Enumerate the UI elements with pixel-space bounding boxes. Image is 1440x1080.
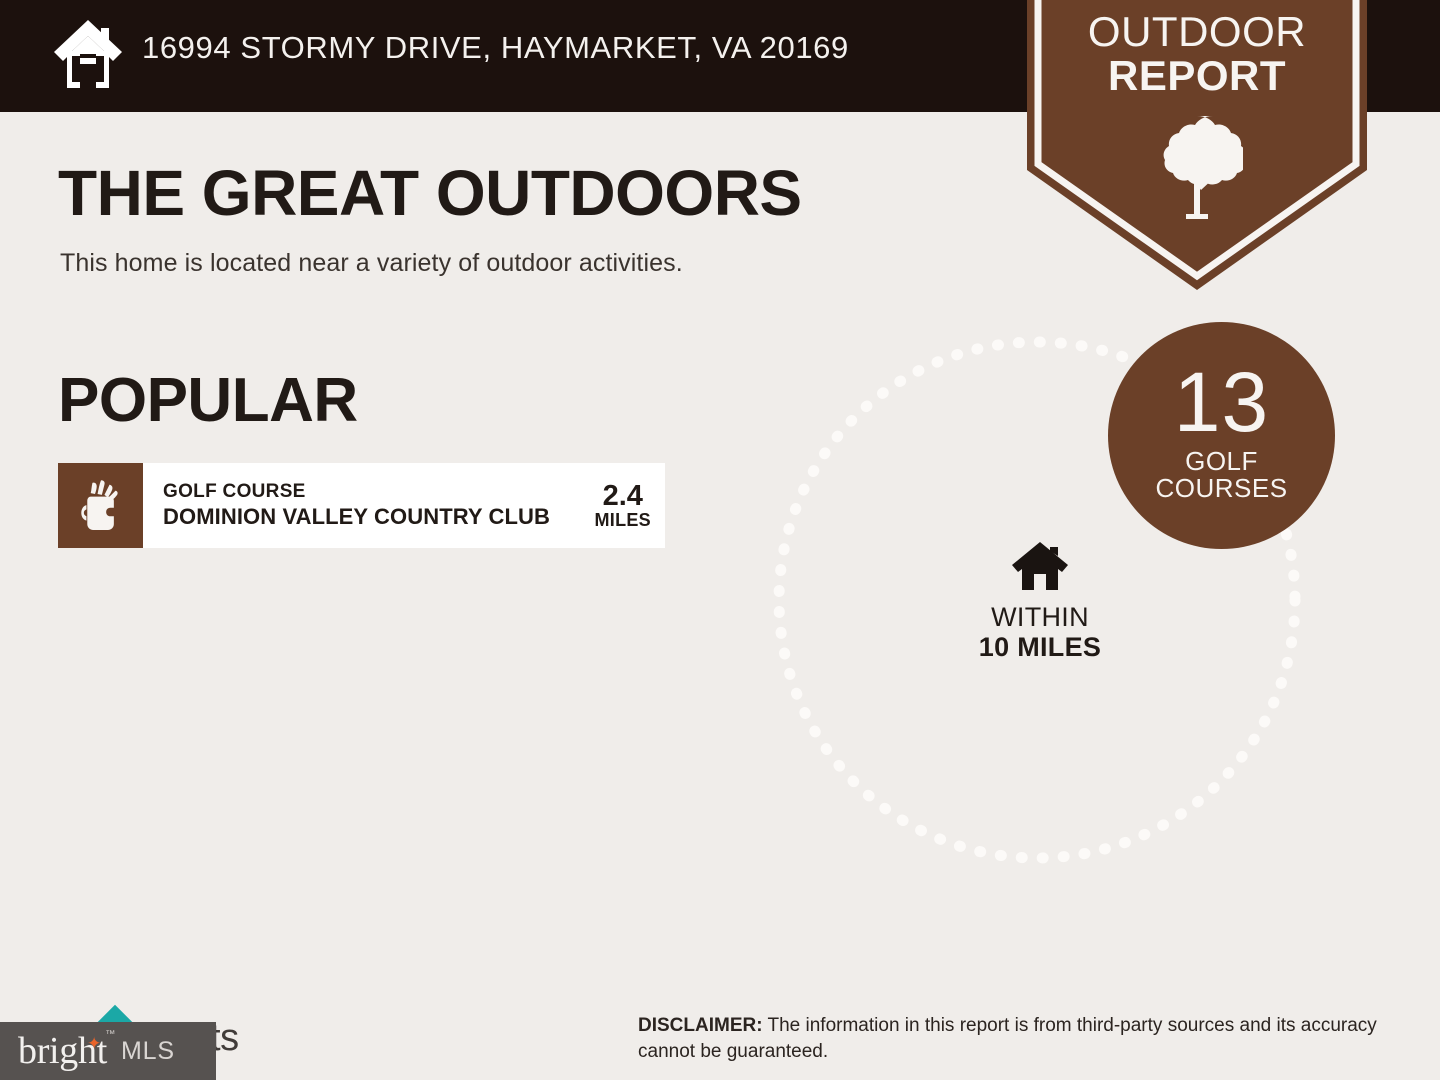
stat-label-line2: COURSES <box>1155 473 1287 503</box>
poi-text: GOLF COURSE DOMINION VALLEY COUNTRY CLUB <box>163 481 550 529</box>
home-icon <box>1012 540 1068 592</box>
outdoor-report-badge: OUTDOOR REPORT <box>1027 0 1367 290</box>
home-icon <box>52 14 124 94</box>
disclaimer-label: DISCLAIMER: <box>638 1015 763 1036</box>
bright-mls-logo: bright ✦ ™ MLS <box>0 1022 216 1080</box>
list-item[interactable]: GOLF COURSE DOMINION VALLEY COUNTRY CLUB… <box>58 463 665 548</box>
poi-distance: 2.4 MILES <box>584 481 651 530</box>
radius-label-line2: 10 MILES <box>940 633 1140 663</box>
disclaimer: DISCLAIMER: The information in this repo… <box>638 1013 1398 1064</box>
poi-distance-value: 2.4 <box>594 481 651 511</box>
footer-branding: eports bright ✦ ™ MLS <box>40 1015 460 1071</box>
radius-label-line1: WITHIN <box>940 603 1140 633</box>
radius-center-label: WITHIN 10 MILES <box>940 540 1140 662</box>
star-icon: ✦ <box>87 1036 102 1051</box>
poi-distance-unit: MILES <box>594 511 651 530</box>
page-title: THE GREAT OUTDOORS <box>58 161 802 225</box>
poi-name: DOMINION VALLEY COUNTRY CLUB <box>163 504 550 530</box>
bright-wordmark: bright ✦ ™ <box>18 1032 107 1070</box>
property-address: 16994 STORMY DRIVE, HAYMARKET, VA 20169 <box>142 30 849 66</box>
page-subtitle: This home is located near a variety of o… <box>60 249 683 278</box>
mls-text: MLS <box>121 1039 175 1064</box>
stat-value: 13 <box>1174 364 1269 441</box>
popular-heading: POPULAR <box>58 370 358 432</box>
golf-courses-stat: 13 GOLF COURSES <box>1108 322 1335 549</box>
golf-bag-icon <box>58 463 143 548</box>
radius-label: WITHIN 10 MILES <box>940 603 1140 662</box>
poi-card: GOLF COURSE DOMINION VALLEY COUNTRY CLUB… <box>143 463 665 548</box>
outdoor-report-page: 16994 STORMY DRIVE, HAYMARKET, VA 20169 … <box>0 0 1440 1080</box>
stat-label-line1: GOLF <box>1185 446 1258 476</box>
poi-category: GOLF COURSE <box>163 481 550 503</box>
stat-label: GOLF COURSES <box>1155 448 1287 503</box>
trademark-icon: ™ <box>105 1030 115 1040</box>
tree-icon <box>1151 112 1243 222</box>
